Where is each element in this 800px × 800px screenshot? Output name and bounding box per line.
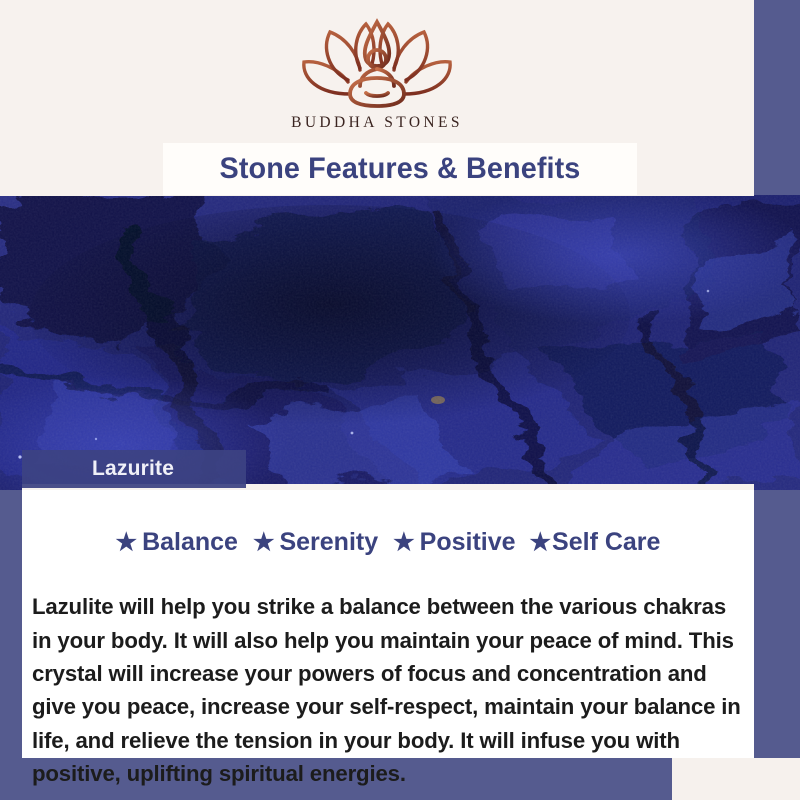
keyword-item-balance: ★ Balance	[116, 528, 238, 557]
stone-description: Lazulite will help you strike a balance …	[32, 590, 744, 790]
keyword-item-positive: ★ Positive	[393, 528, 515, 557]
star-icon: ★	[253, 531, 275, 555]
star-icon: ★	[116, 531, 138, 555]
poster-root: BUDDHA STONES Stone Features & Benefits	[0, 0, 800, 800]
stone-name-band: Lazurite	[22, 450, 246, 488]
lazurite-stone-image	[0, 195, 800, 490]
brand-name: BUDDHA STONES	[0, 114, 754, 132]
star-icon: ★	[530, 531, 552, 555]
keyword-item-serenity: ★ Serenity	[253, 528, 378, 557]
frame-border-left	[0, 484, 22, 800]
title-banner: Stone Features & Benefits	[163, 143, 637, 195]
page-title: Stone Features & Benefits	[220, 152, 581, 186]
star-icon: ★	[393, 531, 415, 555]
keyword-label: Serenity	[279, 528, 378, 557]
frame-bottom-diagonal-cut	[758, 758, 800, 800]
keyword-label: Positive	[420, 528, 516, 557]
brand-logo: BUDDHA STONES	[0, 16, 754, 132]
lotus-meditation-figure-icon	[288, 16, 466, 112]
keyword-item-self-care: ★ Self Care	[530, 528, 661, 557]
stone-photo	[0, 195, 800, 490]
stone-name-label: Lazurite	[92, 457, 174, 481]
keyword-label: Balance	[142, 528, 238, 557]
keyword-list: ★ Balance ★ Serenity ★ Positive ★ Self C…	[22, 528, 754, 557]
keyword-label: Self Care	[552, 528, 660, 557]
